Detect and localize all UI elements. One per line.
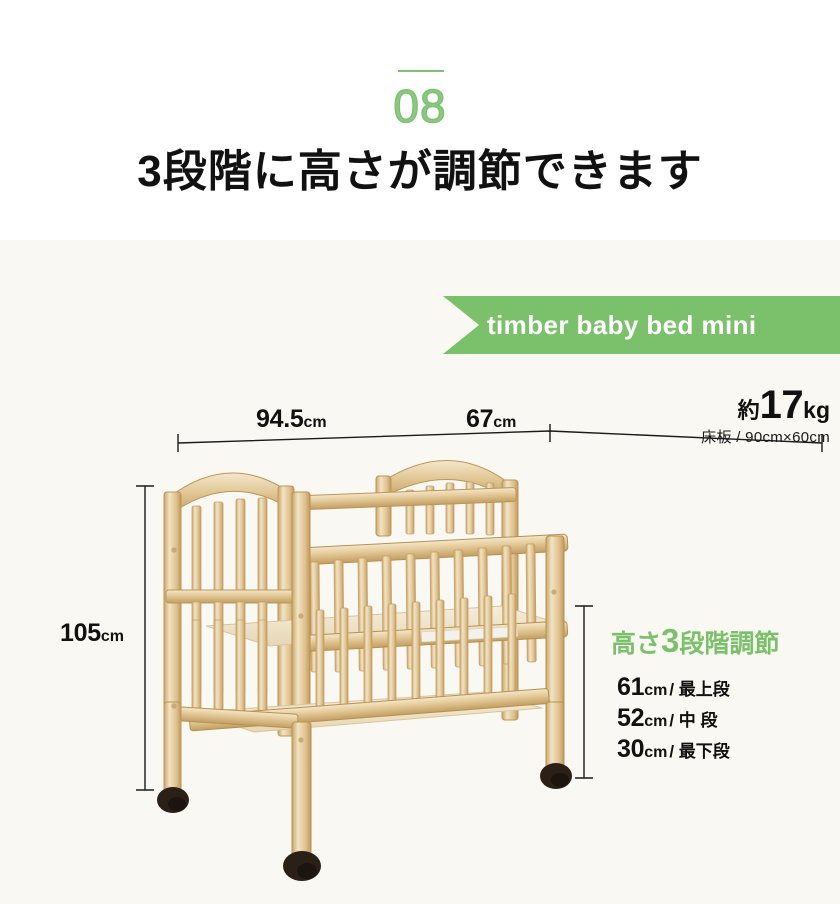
height-adjust-step-count: 3 (661, 622, 679, 659)
height-level-row: 30cm/ 最下段 (617, 734, 730, 765)
height-level-row: 61cm/ 最上段 (617, 672, 730, 703)
dimension-value: 94.5 (256, 405, 303, 433)
height-level-label: / 最上段 (669, 680, 729, 699)
weight-prefix: 約 (738, 398, 760, 423)
height-level-unit: cm (644, 713, 667, 730)
infographic-page: 08 3段階に高さが調節できます (0, 0, 840, 904)
height-adjust-title: 高さ3段階調節 (611, 624, 779, 665)
dimension-label-height: 105cm (60, 619, 124, 648)
crib-illustration (150, 440, 580, 890)
dimension-unit: cm (303, 414, 326, 431)
height-level-value: 61 (617, 673, 644, 701)
dimension-unit: cm (493, 414, 516, 431)
height-adjust-title-prefix: 高さ (611, 630, 661, 658)
product-name: timber baby bed mini (487, 296, 840, 354)
dimension-unit: cm (101, 628, 124, 645)
header-section: 08 3段階に高さが調節できます (0, 0, 840, 240)
weight-value: 17 (760, 383, 804, 427)
dimension-label-width: 67cm (466, 405, 516, 434)
section-rule (398, 70, 444, 72)
height-adjust-title-suffix: 段階調節 (679, 630, 779, 658)
height-level-value: 30 (617, 735, 644, 763)
dimension-value: 105 (60, 619, 101, 647)
height-level-label: / 最下段 (669, 742, 729, 761)
height-level-unit: cm (644, 682, 667, 699)
height-level-label: / 中 段 (669, 711, 717, 730)
dimension-value: 67 (466, 405, 493, 433)
weight-spec: 約17kg (600, 383, 830, 428)
height-level-unit: cm (644, 744, 667, 761)
weight-unit: kg (803, 397, 830, 423)
height-adjust-list: 61cm/ 最上段 52cm/ 中 段 30cm/ 最下段 (617, 672, 730, 765)
section-number: 08 (0, 80, 840, 132)
height-level-value: 52 (617, 704, 644, 732)
dimension-label-depth: 94.5cm (256, 405, 327, 434)
page-title: 3段階に高さが調節できます (0, 143, 840, 201)
floor-board-spec: 床板 / 90cm×60cm (600, 426, 830, 447)
height-level-row: 52cm/ 中 段 (617, 703, 730, 734)
